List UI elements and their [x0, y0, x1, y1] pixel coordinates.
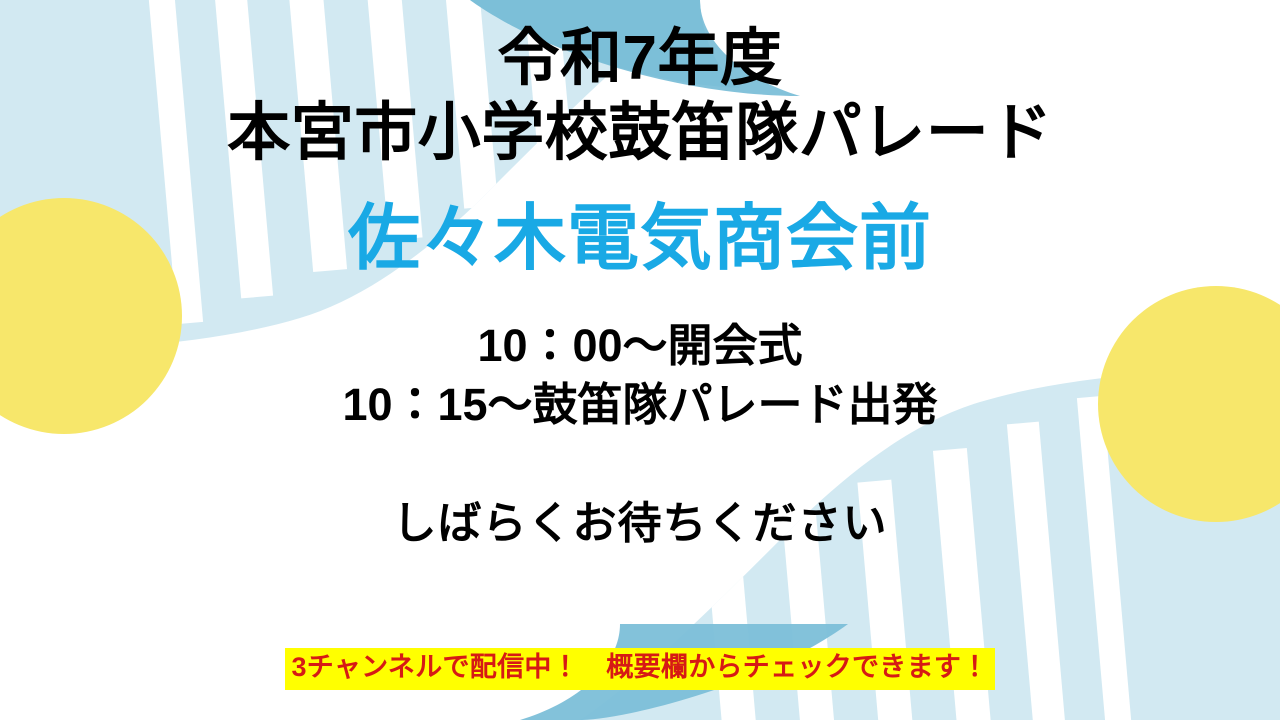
banner-wrapper: 3チャンネルで配信中！ 概要欄からチェックできます！	[0, 648, 1280, 690]
channel-promo-banner: 3チャンネルで配信中！ 概要欄からチェックできます！	[285, 648, 994, 690]
schedule-row-opening-ceremony: 10：00〜開会式	[342, 316, 937, 375]
standby-message: しばらくお待ちください	[393, 487, 888, 551]
title-line-year: 令和7年度	[227, 26, 1053, 92]
schedule-row-parade-start: 10：15〜鼓笛隊パレード出発	[342, 375, 937, 434]
venue-location: 佐々木電気商会前	[348, 202, 932, 278]
title-block: 令和7年度 本宮市小学校鼓笛隊パレード	[227, 26, 1053, 166]
broadcast-standby-slate: 令和7年度 本宮市小学校鼓笛隊パレード 佐々木電気商会前 10：00〜開会式 1…	[0, 0, 1280, 720]
slate-content: 令和7年度 本宮市小学校鼓笛隊パレード 佐々木電気商会前 10：00〜開会式 1…	[0, 0, 1280, 720]
title-line-event: 本宮市小学校鼓笛隊パレード	[227, 100, 1053, 167]
schedule-block: 10：00〜開会式 10：15〜鼓笛隊パレード出発	[342, 316, 937, 435]
